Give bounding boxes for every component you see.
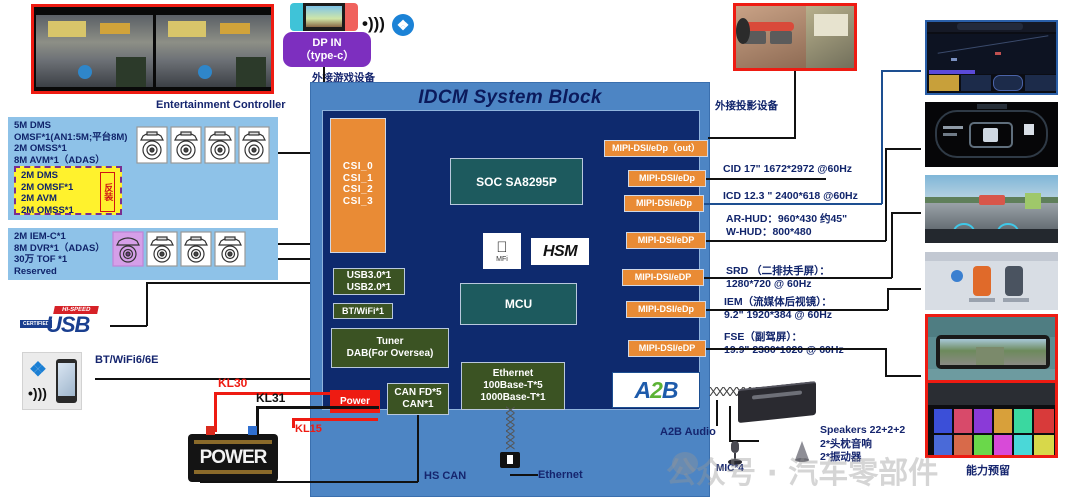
bt-wifi-label: BT/WiFi6/6E [95, 354, 158, 366]
mipi-port-3[interactable]: MIPI-DSI/eDP [626, 232, 706, 249]
external-projection-device-photo [733, 3, 857, 71]
csi-interface-block[interactable]: CSI_0 CSI_1 CSI_2 CSI_3 [330, 118, 386, 253]
iem-mirror-photo [925, 314, 1058, 384]
mipi-port-0[interactable]: MIPI-DSI/eDp（out） [604, 140, 708, 157]
kl15-label: KL15 [295, 423, 322, 435]
mipi-line-5-h [887, 288, 921, 290]
game-console-icon [290, 3, 358, 31]
usb-connector-line [110, 325, 147, 327]
phone-icon [56, 359, 77, 403]
wifi-waves-icon: •))) [28, 385, 47, 401]
reserve-capability-caption: 能力预留 [966, 462, 1010, 478]
battery-positive-terminal [206, 426, 215, 435]
icd-cluster-photo [925, 102, 1058, 167]
cid-callout: CID 17" 1672*2972 @60Hz [723, 163, 852, 176]
mipi-port-1[interactable]: MIPI-DSI/eDp [628, 170, 706, 187]
external-projection-label: 外接投影设备 [715, 100, 778, 113]
projection-connector-line-h [708, 137, 796, 139]
reverse-mount-badge: 反装 [100, 172, 115, 212]
fse-callout: FSE（副驾屏）： 19.9" 2380*1020 @ 60Hz [724, 331, 844, 357]
camera-reverse-mount-note: 2M DMS 2M OMSF*1 2M AVM 2M OMSS*1 反装 [14, 166, 122, 215]
hsm-logo-box: HSM [531, 238, 589, 265]
mipi-line-6-v [885, 348, 887, 376]
page-title: IDCM System Block [311, 87, 709, 109]
usb-ports-block[interactable]: USB3.0*1 USB2.0*1 [333, 268, 405, 295]
mic-connector-line-v [729, 406, 731, 441]
mipi-line-4-v [891, 212, 893, 278]
bluetooth-icon: ❖ [392, 14, 414, 36]
mipi-port-2[interactable]: MIPI-DSI/eDp [624, 195, 704, 212]
mipi-line-5 [706, 309, 888, 311]
csi-line-3: CSI_3 [343, 196, 373, 208]
mfi-logo-box:  MFi [483, 233, 521, 269]
a2b-logo: A2B [612, 372, 700, 408]
ethernet-cable-coil-icon: XXXXXXX [503, 406, 517, 448]
dp-in-label-line2: （type-c） [300, 50, 354, 63]
kl30-line-right [376, 392, 379, 398]
bt-wifi-device-icon: ❖ •))) [22, 352, 82, 410]
hs-can-label: HS CAN [424, 470, 466, 482]
mipi-line-3-v [885, 148, 887, 241]
usb-wordmark: USB [46, 312, 89, 338]
hsm-label: HSM [543, 243, 577, 261]
mipi-port-5[interactable]: MIPI-DSI/eDp [626, 301, 706, 318]
bt-wifi-block[interactable]: BT/WiFi*1 [333, 303, 393, 319]
mipi-line-2 [704, 203, 882, 205]
kl15-line [292, 418, 378, 421]
mipi-line-6-h [885, 375, 921, 377]
dp-in-type-c-port[interactable]: DP IN （type-c） [283, 32, 371, 67]
a2b-audio-label: A2B Audio [660, 426, 716, 438]
battery-wordmark: POWER [200, 447, 267, 469]
a2b-wordmark: A2B [634, 377, 677, 404]
ar-hud-photo [925, 175, 1058, 243]
battery-icon: POWER [188, 434, 278, 482]
kl31-line [256, 406, 379, 409]
rear-entertainment-photo [925, 380, 1058, 458]
usb-logo: HI-SPEED CERTIFIED USB [20, 306, 110, 340]
mipi-line-5-v [887, 288, 889, 310]
ethernet-label: Ethernet [538, 469, 583, 481]
mipi-line-2-top [881, 70, 921, 72]
mipi-line-4 [704, 277, 892, 279]
ethernet-block[interactable]: Ethernet 100Base-T*5 1000Base-T*1 [461, 362, 565, 410]
cid-display-photo [925, 20, 1058, 95]
mcu-block[interactable]: MCU [460, 283, 577, 325]
mipi-line-3-h [885, 148, 921, 150]
srd-display-photo [925, 252, 1058, 310]
a2b-audio-line [716, 400, 718, 426]
icd-callout: ICD 12.3 " 2400*618 @60Hz [723, 190, 858, 203]
kl30-line-top [214, 392, 378, 395]
mipi-port-6[interactable]: MIPI-DSI/eDP [628, 340, 706, 357]
btwifi-connector-line [95, 378, 330, 380]
camera-icon-row-1 [136, 126, 270, 171]
kl30-label: KL30 [218, 376, 247, 390]
apple-icon:  [496, 240, 507, 255]
entertainment-controller-photo [31, 4, 274, 94]
ethernet-connector-icon [500, 452, 520, 468]
wireless-waves-icon: •))) [362, 14, 385, 34]
watermark-text: 公众号 · 汽车零部件 [666, 448, 938, 492]
mipi-line-6 [706, 348, 886, 350]
dp-in-label-line1: DP IN [312, 37, 341, 50]
camera-icon-row-2 [112, 231, 246, 274]
soc-block[interactable]: SOC SA8295P [450, 158, 583, 205]
mipi-port-4[interactable]: MIPI-DSI/eDP [622, 269, 704, 286]
mipi-line-1 [706, 178, 826, 180]
mipi-line-3 [706, 240, 886, 242]
battery-negative-terminal [248, 426, 257, 435]
tuner-block[interactable]: Tuner DAB(For Oversea) [331, 328, 449, 368]
projection-connector-line [794, 71, 796, 138]
usb-connector-vertical [146, 282, 148, 326]
can-block[interactable]: CAN FD*5 CAN*1 [387, 383, 449, 415]
amplifier-icon [738, 381, 816, 423]
usb-connector-line-2 [146, 282, 330, 284]
kl31-label: KL31 [256, 391, 285, 405]
csi-line-0: CSI_0 [343, 161, 373, 173]
bluetooth-glyph-icon: ❖ [29, 357, 47, 382]
hud-callout: AR-HUD：960*430 约45" W-HUD：800*480 [726, 213, 847, 239]
mfi-label: MFi [496, 256, 508, 263]
mipi-line-4-h [891, 212, 921, 214]
entertainment-controller-caption: Entertainment Controller [156, 99, 286, 111]
csi-line-1: CSI_1 [343, 173, 373, 185]
hs-can-line-h [200, 481, 418, 483]
mipi-line-2-v [881, 70, 883, 204]
csi-line-2: CSI_2 [343, 184, 373, 196]
ethernet-line [510, 474, 538, 476]
hs-can-line-v [417, 415, 419, 482]
